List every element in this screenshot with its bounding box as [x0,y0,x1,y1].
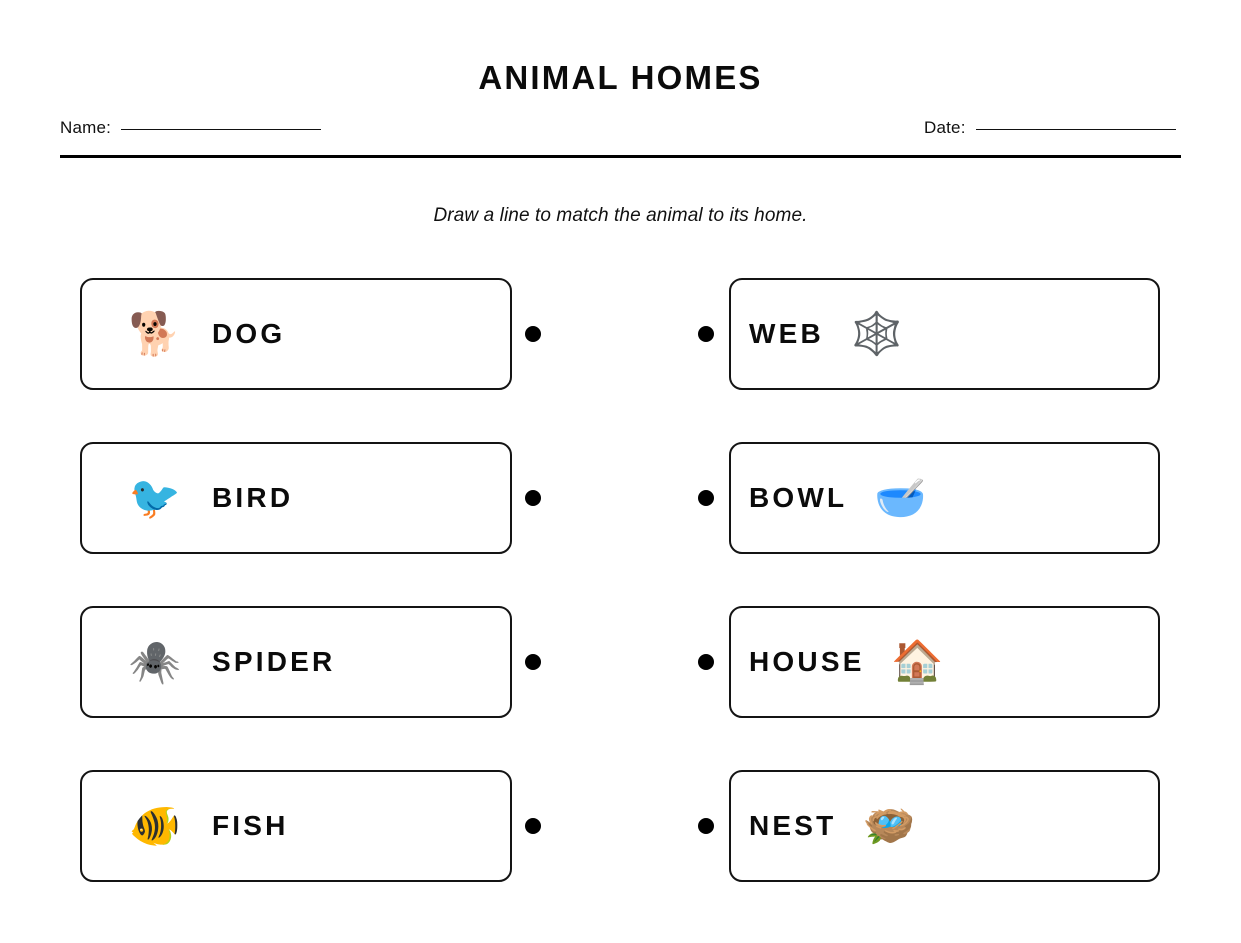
home-card-bowl[interactable]: BOWL 🥣 [729,442,1160,554]
animal-card-dog[interactable]: 🐕 DOG [80,278,512,390]
name-date-row: Name: Date: [60,118,1181,148]
animal-card-bird[interactable]: 🐦 BIRD [80,442,512,554]
date-label: Date: [924,118,966,138]
house-emoji: 🏠 [891,641,945,683]
home-card-nest[interactable]: NEST 🪺 [729,770,1160,882]
bird-emoji: 🐦 [128,477,182,519]
animal-card-spider[interactable]: 🕷️ SPIDER [80,606,512,718]
home-card-label: NEST [749,810,836,842]
matching-grid: 🐕 DOG WEB 🕸️ 🐦 BIRD BOWL 🥣 [0,278,1241,883]
spider-web-emoji: 🕸️ [850,313,904,355]
home-card-label: BOWL [749,482,847,514]
connector-dot-right[interactable] [698,818,714,834]
page-title: ANIMAL HOMES [0,57,1241,99]
connector-dot-left[interactable] [525,490,541,506]
instruction-text: Draw a line to match the animal to its h… [0,202,1241,230]
connector-dot-right[interactable] [698,326,714,342]
animal-card-fish[interactable]: 🐠 FISH [80,770,512,882]
animal-card-label: BIRD [212,482,293,514]
date-field-group: Date: [924,118,1176,138]
animal-card-label: SPIDER [212,646,335,678]
home-card-house[interactable]: HOUSE 🏠 [729,606,1160,718]
name-label: Name: [60,118,111,138]
name-field-group: Name: [60,118,321,138]
match-row: 🐠 FISH NEST 🪺 [0,770,1241,882]
match-row: 🐕 DOG WEB 🕸️ [0,278,1241,390]
tropical-fish-emoji: 🐠 [128,805,182,847]
dog-emoji: 🐕 [128,313,182,355]
spider-emoji: 🕷️ [128,641,182,683]
connector-dot-left[interactable] [525,326,541,342]
worksheet-page: ANIMAL HOMES Name: Date: Draw a line to … [0,0,1241,943]
animal-card-label: FISH [212,810,289,842]
home-card-label: HOUSE [749,646,865,678]
home-card-label: WEB [749,318,824,350]
name-write-in-line[interactable] [121,129,321,130]
connector-dot-right[interactable] [698,490,714,506]
match-row: 🐦 BIRD BOWL 🥣 [0,442,1241,554]
nest-with-eggs-emoji: 🪺 [862,805,916,847]
animal-card-label: DOG [212,318,285,350]
connector-dot-right[interactable] [698,654,714,670]
match-row: 🕷️ SPIDER HOUSE 🏠 [0,606,1241,718]
connector-dot-left[interactable] [525,818,541,834]
header-divider [60,155,1181,158]
connector-dot-left[interactable] [525,654,541,670]
date-write-in-line[interactable] [976,129,1176,130]
bowl-with-spoon-emoji: 🥣 [873,477,927,519]
home-card-web[interactable]: WEB 🕸️ [729,278,1160,390]
